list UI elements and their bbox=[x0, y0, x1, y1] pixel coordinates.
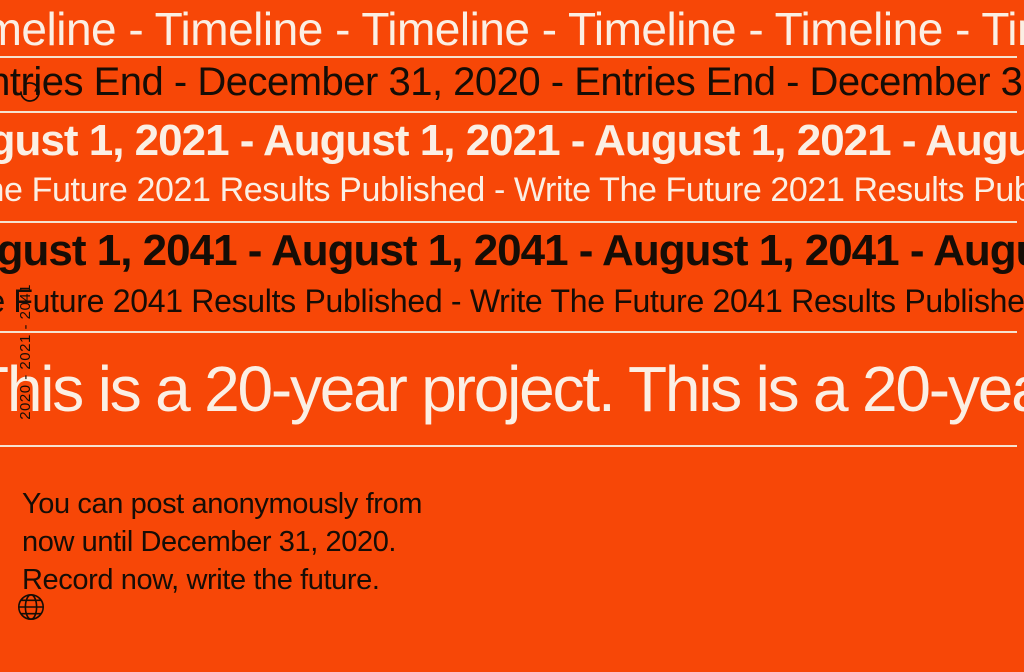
bottom-copy-line-2: now until December 31, 2020. bbox=[22, 523, 542, 561]
divider-rule bbox=[0, 331, 1017, 333]
divider-rule bbox=[0, 56, 1017, 58]
marquee-text-entries-end: Entries End - December 31, 2020 - Entrie… bbox=[0, 62, 1024, 102]
marquee-row-august-2021: August 1, 2021 - August 1, 2021 - August… bbox=[0, 113, 1024, 169]
marquee-row-entries-end: Entries End - December 31, 2020 - Entrie… bbox=[0, 57, 1024, 111]
divider-rule bbox=[0, 111, 1017, 113]
bottom-copy: You can post anonymously from now until … bbox=[22, 485, 542, 599]
marquee-text-results-2021: Write The Future 2021 Results Published … bbox=[0, 173, 1024, 207]
marquee-text-project-statement: This is a 20-year project. This is a 20-… bbox=[0, 357, 1024, 421]
marquee-row-results-2041: Write The Future 2041 Results Published … bbox=[0, 282, 1024, 332]
marquee-row-timeline: Timeline - Timeline - Timeline - Timelin… bbox=[0, 0, 1024, 56]
marquee-row-results-2021: Write The Future 2021 Results Published … bbox=[0, 168, 1024, 220]
divider-rule bbox=[0, 221, 1017, 223]
marquee-text-august-2041: August 1, 2041 - August 1, 2041 - August… bbox=[0, 229, 1024, 273]
timeline-page: Timeline - Timeline - Timeline - Timelin… bbox=[0, 0, 1024, 672]
divider-rule bbox=[0, 445, 1017, 447]
bottom-copy-line-1: You can post anonymously from bbox=[22, 485, 542, 523]
vertical-years-label: 2020 - 2021 - 2041 bbox=[18, 284, 33, 420]
bottom-copy-line-3: Record now, write the future. bbox=[22, 561, 542, 599]
marquee-row-august-2041: August 1, 2041 - August 1, 2041 - August… bbox=[0, 223, 1024, 279]
marquee-text-timeline: Timeline - Timeline - Timeline - Timelin… bbox=[0, 6, 1024, 52]
refresh-icon[interactable] bbox=[16, 78, 44, 106]
marquee-text-results-2041: Write The Future 2041 Results Published … bbox=[0, 285, 1024, 317]
marquee-text-august-2021: August 1, 2021 - August 1, 2021 - August… bbox=[0, 119, 1024, 163]
marquee-row-project-statement: This is a 20-year project. This is a 20-… bbox=[0, 333, 1024, 446]
